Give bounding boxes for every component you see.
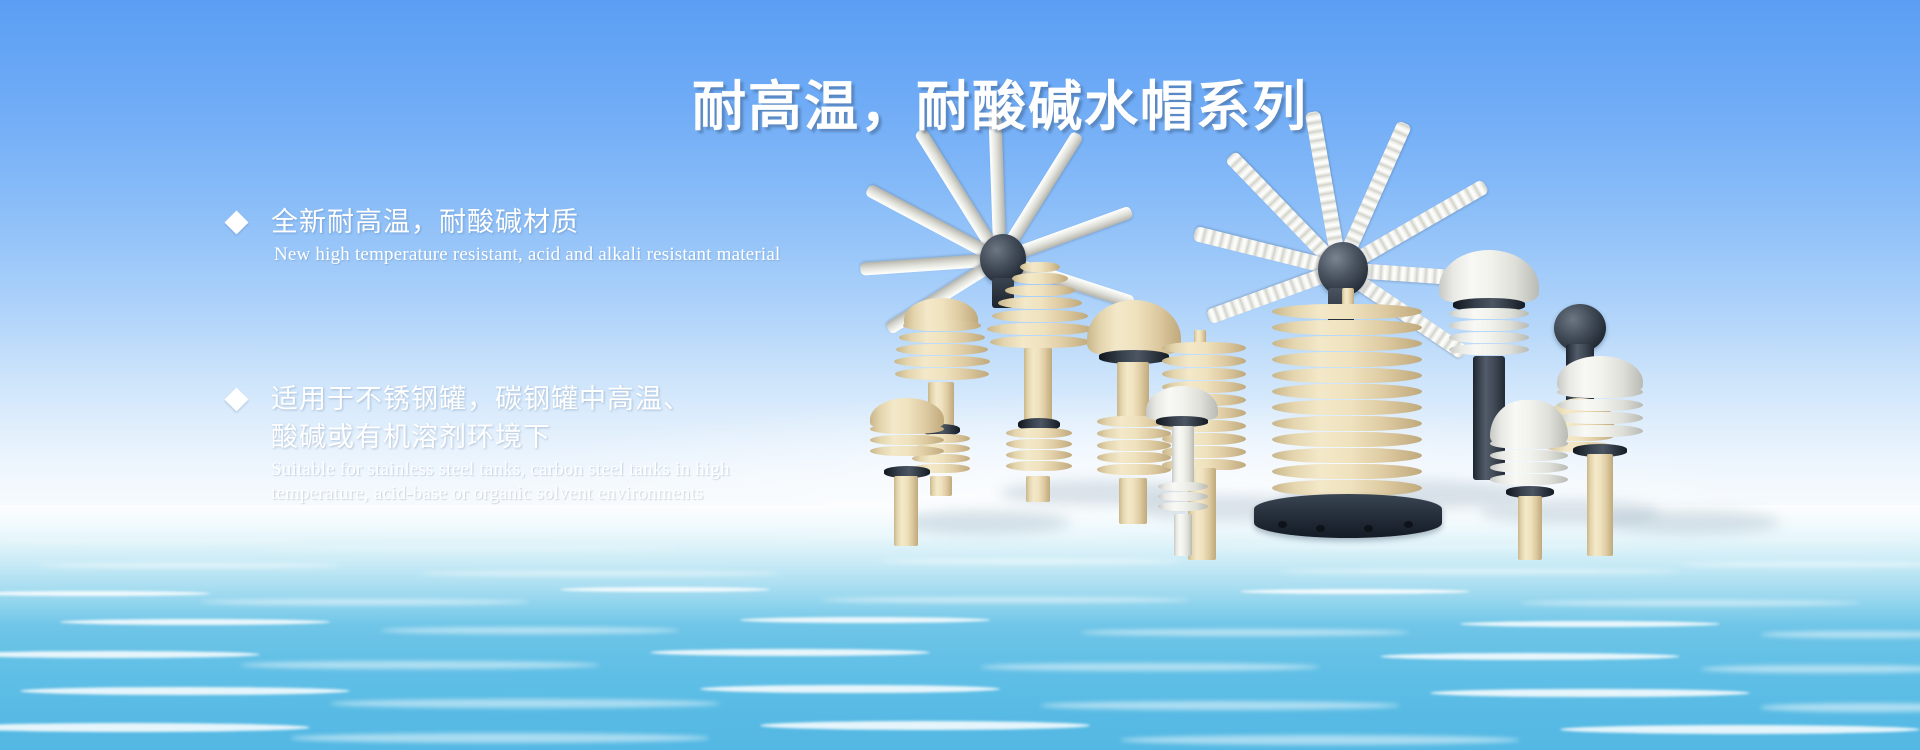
- product-slim-cap-white: [1138, 386, 1230, 556]
- product-dome-cap-b: [1480, 400, 1580, 560]
- product-base-flange: [1254, 494, 1442, 538]
- feature-bullet-2-en: Suitable for stainless steel tanks, carb…: [271, 458, 730, 506]
- feature-bullet-2-cn: 适用于不锈钢罐，碳钢罐中高温、 酸碱或有机溶剂环境下: [271, 380, 691, 457]
- feature-bullet-1-cn: 全新耐高温，耐酸碱材质: [271, 203, 579, 241]
- page-title: 耐高温，耐酸碱水帽系列: [692, 62, 1308, 141]
- feature-bullet-2: 适用于不锈钢罐，碳钢罐中高温、 酸碱或有机溶剂环境下 Suitable for …: [228, 380, 730, 506]
- product-small-cap-cream: [860, 398, 956, 548]
- product-banner: 耐高温，耐酸碱水帽系列 全新耐高温，耐酸碱材质 New high tempera…: [0, 0, 1920, 750]
- diamond-marker-icon: [224, 210, 248, 234]
- product-large-filter-cylinder: [1250, 288, 1450, 538]
- diamond-marker-icon: [224, 387, 248, 411]
- feature-bullet-1-en: New high temperature resistant, acid and…: [274, 243, 781, 267]
- feature-bullet-1: 全新耐高温，耐酸碱材质 New high temperature resista…: [228, 203, 781, 267]
- product-group-image: [880, 150, 1920, 650]
